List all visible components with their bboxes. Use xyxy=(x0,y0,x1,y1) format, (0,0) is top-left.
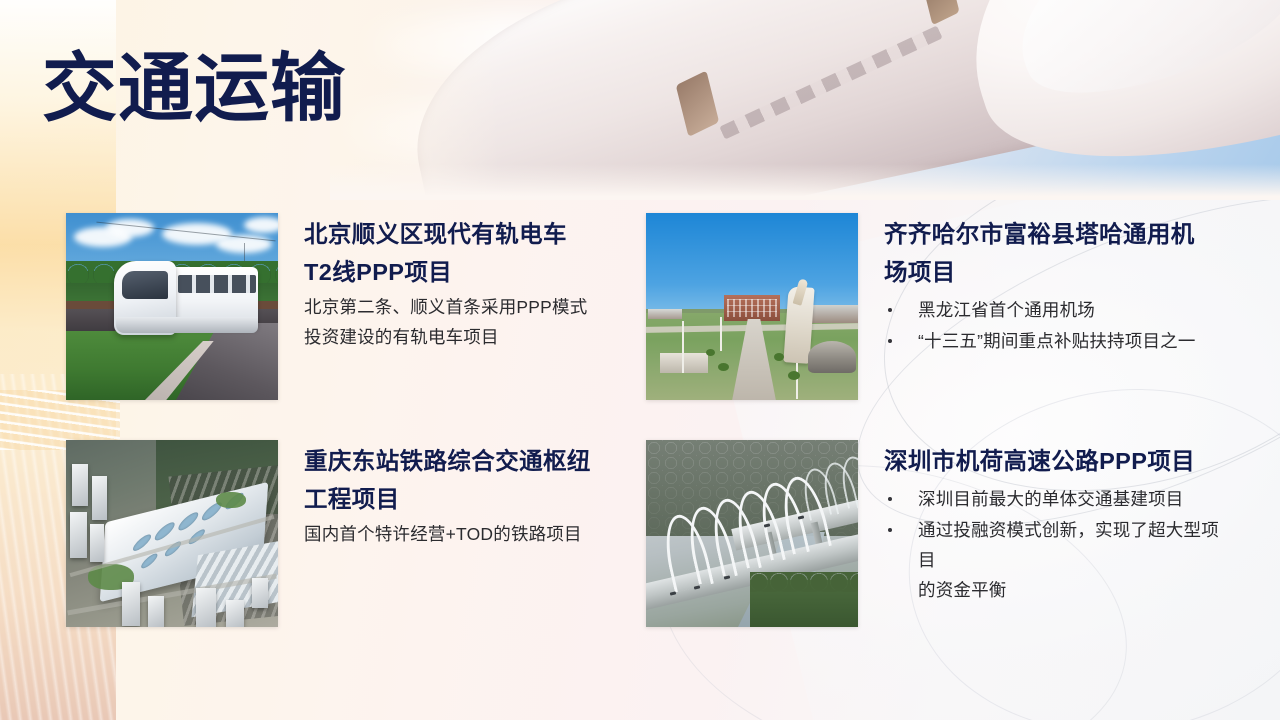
highrise xyxy=(90,524,104,562)
card-title-line-2: T2线PPP项目 xyxy=(304,253,646,291)
card-title-line-1: 重庆东站铁路综合交通枢纽 xyxy=(304,442,646,480)
card-text: 齐齐哈尔市富裕县塔哈通用机 场项目 黑龙江省首个通用机场 “十三五”期间重点补贴… xyxy=(858,213,1226,356)
cloud xyxy=(244,217,278,233)
card-text: 北京顺义区现代有轨电车 T2线PPP项目 北京第二条、顺义首条采用PPP模式 投… xyxy=(278,213,646,352)
card-title-line-1: 北京顺义区现代有轨电车 xyxy=(304,215,646,253)
card-text: 重庆东站铁路综合交通枢纽 工程项目 国内首个特许经营+TOD的铁路项目 xyxy=(278,440,646,549)
card-description: 北京第二条、顺义首条采用PPP模式 投资建设的有轨电车项目 xyxy=(304,292,646,352)
list-item: 深圳目前最大的单体交通基建项目 xyxy=(884,484,1226,514)
tram-photo[interactable] xyxy=(66,213,278,400)
header-fade-bottom xyxy=(330,164,1280,200)
expressway-photo[interactable] xyxy=(646,440,858,627)
shrub xyxy=(706,349,715,356)
card-title-line-1: 齐齐哈尔市富裕县塔哈通用机 xyxy=(884,215,1226,253)
project-card-tram[interactable]: 北京顺义区现代有轨电车 T2线PPP项目 北京第二条、顺义首条采用PPP模式 投… xyxy=(66,213,646,400)
card-row-top: 北京顺义区现代有轨电车 T2线PPP项目 北京第二条、顺义首条采用PPP模式 投… xyxy=(66,213,1226,400)
stone-plinth xyxy=(660,353,708,373)
card-title: 深圳市机荷高速公路PPP项目 xyxy=(884,442,1226,480)
tram-windows xyxy=(178,275,256,293)
list-item-line-1: 通过投融资模式创新，实现了超大型项目 xyxy=(918,520,1219,570)
highrise xyxy=(122,582,140,626)
card-title: 北京顺义区现代有轨电车 T2线PPP项目 xyxy=(304,215,646,291)
card-description: 国内首个特许经营+TOD的铁路项目 xyxy=(304,519,646,549)
card-title-line-1: 深圳市机荷高速公路PPP项目 xyxy=(884,442,1226,480)
card-desc-line-2: 投资建设的有轨电车项目 xyxy=(304,322,646,352)
card-title: 重庆东站铁路综合交通枢纽 工程项目 xyxy=(304,442,646,518)
list-item: 黑龙江省首个通用机场 xyxy=(884,295,1226,325)
highrise xyxy=(148,596,164,627)
highrise xyxy=(72,464,88,506)
cloud xyxy=(106,219,154,237)
train-vent xyxy=(921,0,960,25)
roof-skylight xyxy=(177,509,201,533)
list-item-line-2: 的资金平衡 xyxy=(918,580,1007,600)
foreground-trees xyxy=(750,580,858,627)
lamp-post xyxy=(682,321,684,373)
pavilion-dome xyxy=(808,341,856,373)
train-vent xyxy=(676,70,719,136)
card-title: 齐齐哈尔市富裕县塔哈通用机 场项目 xyxy=(884,215,1226,291)
card-bullet-list: 深圳目前最大的单体交通基建项目 通过投融资模式创新，实现了超大型项目 的资金平衡 xyxy=(884,484,1226,606)
roof-skylight xyxy=(153,519,177,543)
project-card-airport[interactable]: 齐齐哈尔市富裕县塔哈通用机 场项目 黑龙江省首个通用机场 “十三五”期间重点补贴… xyxy=(646,213,1226,400)
project-card-railway-hub[interactable]: 重庆东站铁路综合交通枢纽 工程项目 国内首个特许经营+TOD的铁路项目 xyxy=(66,440,646,627)
shrub xyxy=(718,363,729,371)
card-title-line-2: 场项目 xyxy=(884,253,1226,291)
train-window-row xyxy=(719,25,942,139)
card-desc-line-1: 北京第二条、顺义首条采用PPP模式 xyxy=(304,292,646,322)
highrise xyxy=(196,588,216,627)
slide-transportation: 交通运输 xyxy=(0,0,1280,720)
card-title-line-2: 工程项目 xyxy=(304,480,646,518)
card-text: 深圳市机荷高速公路PPP项目 深圳目前最大的单体交通基建项目 通过投融资模式创新… xyxy=(858,440,1226,606)
project-card-expressway[interactable]: 深圳市机荷高速公路PPP项目 深圳目前最大的单体交通基建项目 通过投融资模式创新… xyxy=(646,440,1226,627)
highrise xyxy=(92,476,107,520)
tram-windshield xyxy=(122,271,168,299)
airport-photo[interactable] xyxy=(646,213,858,400)
list-item: “十三五”期间重点补贴扶持项目之一 xyxy=(884,326,1226,356)
railway-hub-photo[interactable] xyxy=(66,440,278,627)
outbuilding-right xyxy=(812,305,858,323)
shrub xyxy=(788,371,800,380)
outbuilding-left xyxy=(648,309,682,319)
project-card-grid: 北京顺义区现代有轨电车 T2线PPP项目 北京第二条、顺义首条采用PPP模式 投… xyxy=(66,213,1226,627)
header-train-photo xyxy=(330,0,1280,200)
page-title: 交通运输 xyxy=(42,44,346,133)
list-item: 通过投融资模式创新，实现了超大型项目 的资金平衡 xyxy=(884,515,1226,606)
terminal-building xyxy=(724,295,780,321)
card-desc-line-1: 国内首个特许经营+TOD的铁路项目 xyxy=(304,519,646,549)
card-bullet-list: 黑龙江省首个通用机场 “十三五”期间重点补贴扶持项目之一 xyxy=(884,295,1226,356)
park-green xyxy=(216,492,246,508)
lamp-post xyxy=(720,317,722,351)
card-row-bottom: 重庆东站铁路综合交通枢纽 工程项目 国内首个特许经营+TOD的铁路项目 xyxy=(66,440,1226,627)
tram-skirt xyxy=(116,317,258,333)
highrise xyxy=(226,600,244,627)
lamp-post xyxy=(796,363,798,399)
highrise xyxy=(252,578,268,608)
shrub xyxy=(774,353,784,361)
highrise xyxy=(70,512,87,558)
